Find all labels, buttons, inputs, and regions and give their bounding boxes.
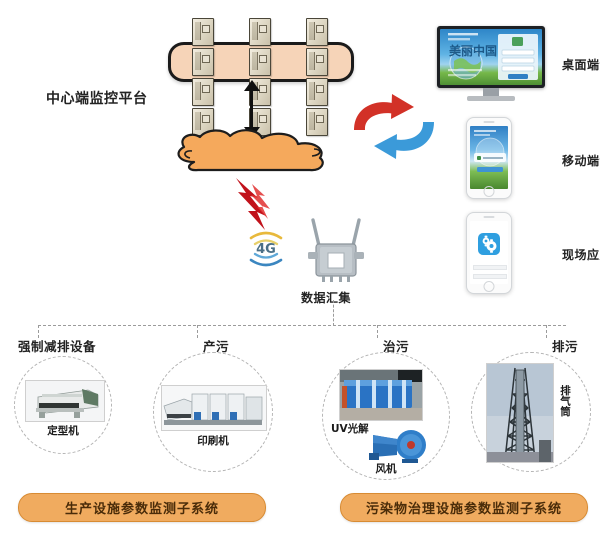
- server-unit-icon: [192, 18, 214, 46]
- server-rack-group: [192, 18, 234, 136]
- desktop-monitor-icon: 美丽中国: [437, 26, 545, 102]
- uv-photolysis-photo: [339, 369, 423, 421]
- server-unit-icon: [306, 78, 328, 106]
- data-aggregation-label: 数据汇集: [301, 289, 351, 306]
- 4g-badge-text: 4G: [256, 242, 276, 257]
- monitor-screen: 美丽中国: [440, 29, 542, 85]
- system-architecture-diagram: 中心端监控平台: [0, 0, 600, 535]
- phone-speaker: [484, 216, 495, 218]
- equipment-circle-uv-treatment: UV光解 风机: [322, 352, 450, 480]
- fan-blower-icon: [367, 429, 429, 463]
- server-unit-icon: [192, 78, 214, 106]
- server-unit-icon: [249, 48, 271, 76]
- tree-drop-line: [546, 325, 547, 338]
- printing-machine-photo: [161, 385, 267, 431]
- server-rack-group: [249, 18, 291, 136]
- server-unit-icon: [249, 18, 271, 46]
- phone-list-row: [473, 265, 507, 270]
- server-rack-group: [306, 18, 348, 136]
- phone-screen: [470, 126, 508, 189]
- 4g-signal-icon: 4G: [243, 226, 289, 268]
- server-unit-icon: [192, 48, 214, 76]
- server-rack-cluster: [192, 18, 348, 136]
- onsite-app-label: 现场应用软件: [562, 246, 600, 263]
- desktop-access-label: 桌面端访问: [562, 56, 600, 73]
- equipment-caption-exhaust-stack: 排气筒: [560, 385, 572, 417]
- svg-text:美丽中国: 美丽中国: [449, 43, 497, 58]
- mobile-access-label: 移动端访问: [562, 152, 600, 169]
- equipment-circle-printing-machine: 印刷机: [153, 352, 273, 472]
- phone-list-row: [473, 274, 507, 279]
- monitor-bezel: 美丽中国: [437, 26, 545, 88]
- cloud-icon: [172, 128, 330, 176]
- gateway-router-icon: [302, 214, 370, 286]
- server-unit-icon: [306, 18, 328, 46]
- equipment-circle-setting-machine: 定型机: [14, 356, 112, 454]
- subsystem-label-treatment: 污染物治理设施参数监测子系统: [366, 498, 562, 517]
- onsite-app-phone-icon: [466, 212, 512, 294]
- lightning-bolt-icon: [232, 178, 276, 230]
- equipment-caption-uv-photolysis: UV光解: [331, 421, 369, 436]
- phone-home-button: [484, 186, 495, 197]
- center-platform-label: 中心端监控平台: [46, 88, 148, 108]
- exhaust-stack-photo: [486, 363, 554, 463]
- sync-arrows-icon: [348, 92, 440, 162]
- tree-bus-line: [38, 325, 566, 326]
- mobile-phone-icon: [466, 117, 512, 199]
- phone-speaker: [484, 121, 495, 123]
- tree-drop-line: [377, 325, 378, 338]
- phone-home-button: [484, 281, 495, 292]
- server-unit-icon: [306, 48, 328, 76]
- equipment-caption-setting-machine: 定型机: [15, 423, 111, 438]
- tree-trunk-line: [333, 300, 334, 326]
- branch-label-forced-reduction: 强制减排设备: [18, 336, 96, 355]
- arrow-shaft: [250, 88, 253, 130]
- tree-drop-line: [197, 325, 198, 338]
- gear-app-icon: [478, 233, 500, 255]
- equipment-caption-printing-machine: 印刷机: [154, 433, 272, 448]
- branch-label-discharge: 排污: [552, 336, 578, 355]
- phone-screen: [470, 221, 508, 284]
- subsystem-label-production: 生产设施参数监测子系统: [65, 498, 219, 517]
- monitor-base: [467, 96, 515, 101]
- subsystem-pill-treatment[interactable]: 污染物治理设施参数监测子系统: [340, 493, 588, 522]
- equipment-circle-exhaust-stack: 排气筒: [471, 352, 591, 472]
- setting-machine-photo: [25, 380, 105, 422]
- equipment-caption-fan: 风机: [323, 461, 449, 476]
- subsystem-pill-production[interactable]: 生产设施参数监测子系统: [18, 493, 266, 522]
